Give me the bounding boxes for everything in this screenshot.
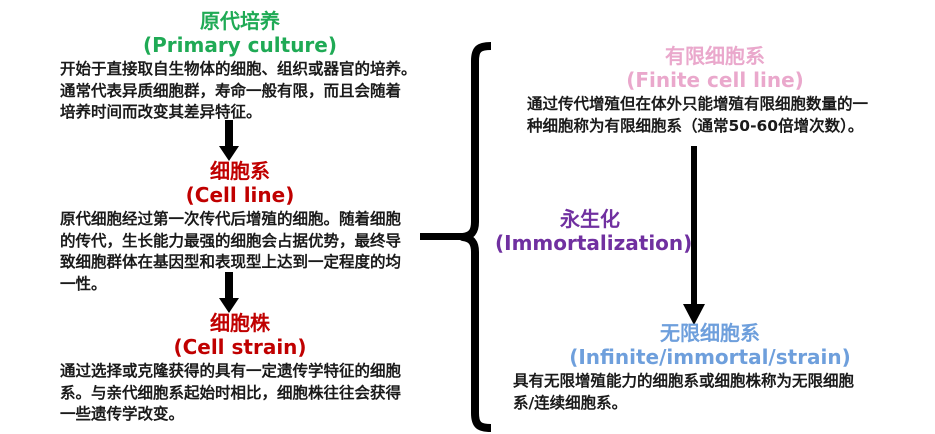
cell-strain-title-en: (Cell strain) xyxy=(60,335,420,359)
cell-strain-description: 通过选择或克隆获得的具有一定遗传学特征的细胞 系。与亲代细胞系起始时相比，细胞株… xyxy=(60,361,420,426)
finite-cell-line-description: 通过传代增殖但在体外只能增殖有限细胞数量的一 种细胞称为有限细胞系（通常50-6… xyxy=(505,94,925,137)
arrow-primary-to-cell-line xyxy=(218,120,240,162)
finite-cell-line-line-2-prefix: 种细胞称为有限细胞系（通常 xyxy=(527,117,729,135)
cell-line-title-cn: 细胞系 xyxy=(60,160,420,183)
cell-line-description: 原代细胞经过第一次传代后增殖的细胞。随着细胞 的传代，生长能力最强的细胞会占据优… xyxy=(60,209,420,295)
infinite-cell-line-line-1: 具有无限增殖能力的细胞系或细胞株称为无限细胞 xyxy=(513,371,925,393)
primary-culture-title-en: (Primary culture) xyxy=(60,33,420,57)
node-immortalization: 永生化 (Immortalization) xyxy=(495,208,685,255)
immortalization-title-en: (Immortalization) xyxy=(495,231,685,255)
primary-culture-line-1: 开始于直接取自生物体的细胞、组织或器官的培养。 xyxy=(60,59,420,81)
node-cell-line: 细胞系 (Cell line) 原代细胞经过第一次传代后增殖的细胞。随着细胞 的… xyxy=(60,160,420,295)
curly-brace-icon xyxy=(455,42,495,432)
arrow-immortalization xyxy=(681,146,707,326)
node-primary-culture: 原代培养 (Primary culture) 开始于直接取自生物体的细胞、组织或… xyxy=(60,10,420,124)
primary-culture-line-2: 通常代表异质细胞群，寿命一般有限，而且会随着 xyxy=(60,81,420,103)
node-infinite-cell-line: 无限细胞系 (Infinite/immortal/strain) 具有无限增殖能… xyxy=(495,322,925,414)
immortalization-title-cn: 永生化 xyxy=(495,208,685,231)
node-cell-strain: 细胞株 (Cell strain) 通过选择或克隆获得的具有一定遗传学特征的细胞… xyxy=(60,312,420,426)
primary-culture-description: 开始于直接取自生物体的细胞、组织或器官的培养。 通常代表异质细胞群，寿命一般有限… xyxy=(60,59,420,124)
cell-strain-line-2: 系。与亲代细胞系起始时相比，细胞株往往会获得 xyxy=(60,383,420,405)
cell-line-title-en: (Cell line) xyxy=(60,183,420,207)
finite-cell-line-title-cn: 有限细胞系 xyxy=(505,45,925,68)
finite-cell-line-line-2-suffix: 倍增次数）。 xyxy=(778,117,863,135)
cell-strain-title-cn: 细胞株 xyxy=(60,312,420,335)
cell-strain-line-3: 一些遗传学改变。 xyxy=(60,404,420,426)
cell-line-line-2: 的传代，生长能力最强的细胞会占据优势，最终导 xyxy=(60,231,420,253)
infinite-cell-line-title-en: (Infinite/immortal/strain) xyxy=(495,345,925,369)
arrow-cell-line-to-cell-strain xyxy=(218,272,240,314)
infinite-cell-line-line-2: 系/连续细胞系。 xyxy=(513,393,925,415)
node-finite-cell-line: 有限细胞系 (Finite cell line) 通过传代增殖但在体外只能增殖有… xyxy=(505,45,925,137)
finite-cell-line-passage-count: 50-60 xyxy=(729,117,779,135)
infinite-cell-line-description: 具有无限增殖能力的细胞系或细胞株称为无限细胞 系/连续细胞系。 xyxy=(495,371,925,414)
cell-strain-line-1: 通过选择或克隆获得的具有一定遗传学特征的细胞 xyxy=(60,361,420,383)
finite-cell-line-title-en: (Finite cell line) xyxy=(505,68,925,92)
primary-culture-line-3: 培养时间而改变其差异特征。 xyxy=(60,102,420,124)
cell-line-line-4: 一性。 xyxy=(60,274,420,296)
infinite-cell-line-title-cn: 无限细胞系 xyxy=(495,322,925,345)
cell-line-line-1: 原代细胞经过第一次传代后增殖的细胞。随着细胞 xyxy=(60,209,420,231)
finite-cell-line-line-1: 通过传代增殖但在体外只能增殖有限细胞数量的一 xyxy=(527,94,925,116)
primary-culture-title-cn: 原代培养 xyxy=(60,10,420,33)
finite-cell-line-line-2: 种细胞称为有限细胞系（通常50-60倍增次数）。 xyxy=(527,116,925,138)
cell-line-line-3: 致细胞群体在基因型和表现型上达到一定程度的均 xyxy=(60,252,420,274)
diagram-canvas: 原代培养 (Primary culture) 开始于直接取自生物体的细胞、组织或… xyxy=(0,0,935,434)
